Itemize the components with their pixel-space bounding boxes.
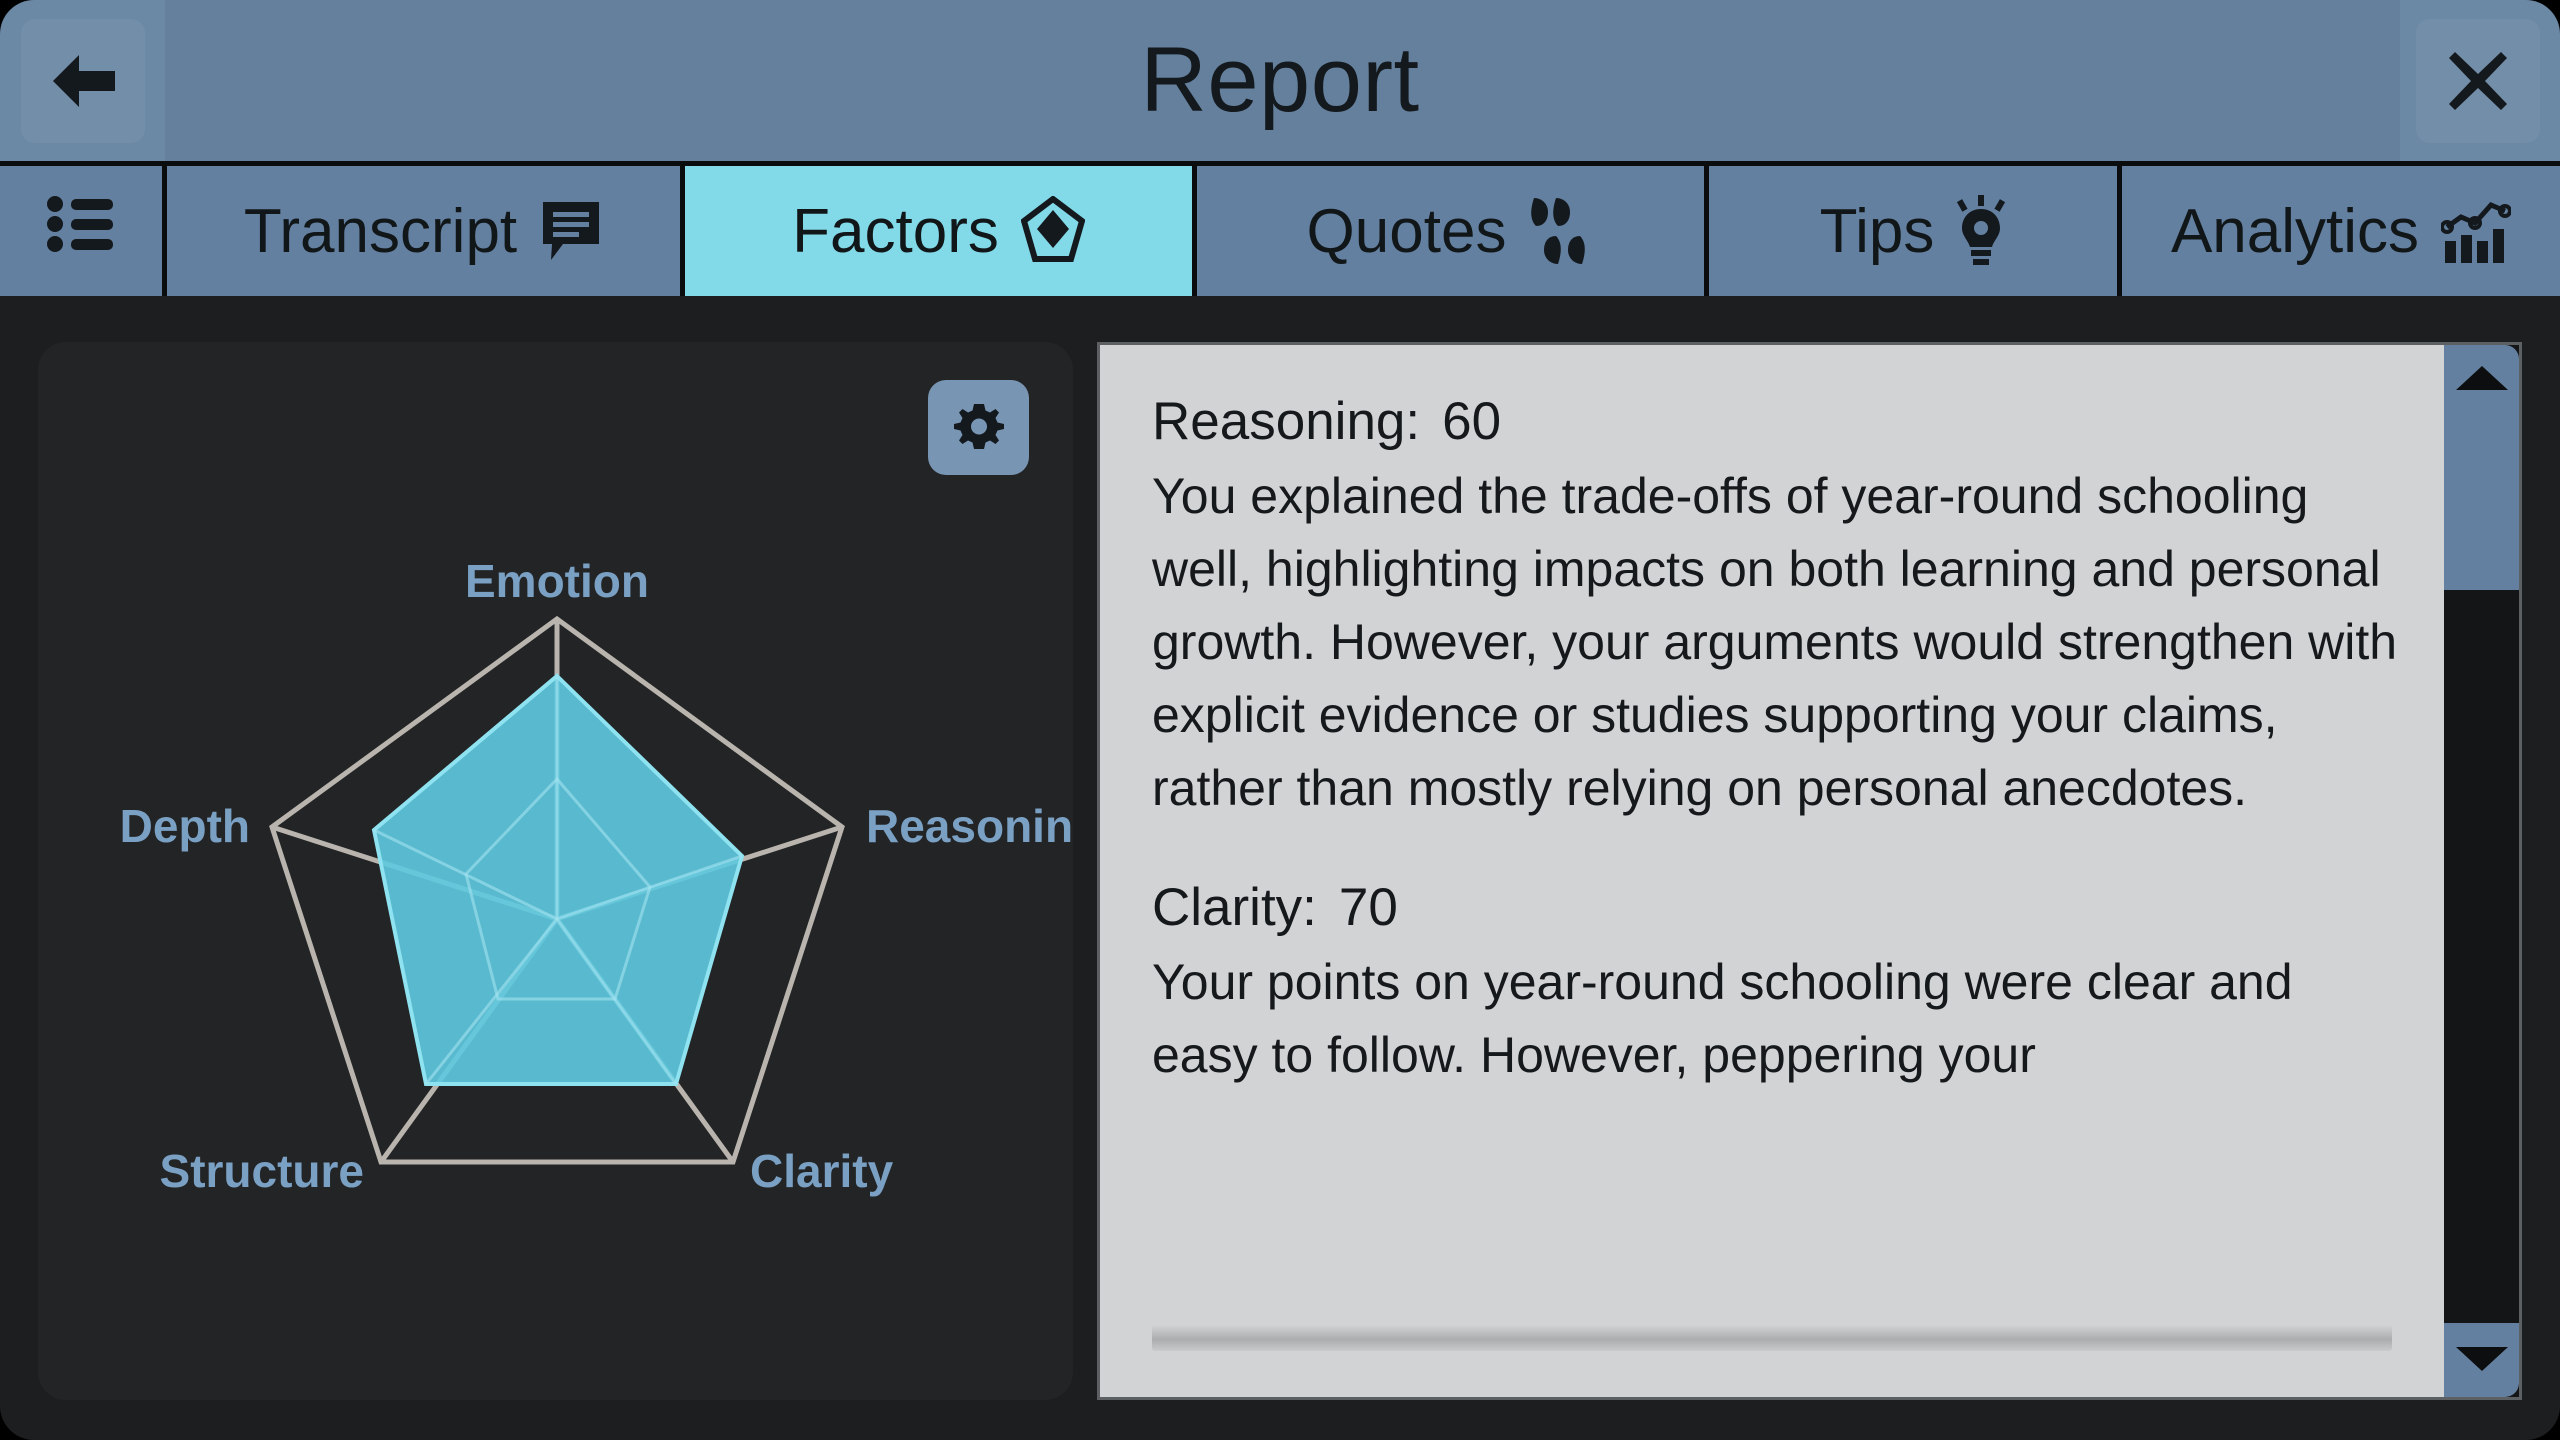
scrollbar-thumb[interactable] bbox=[2444, 345, 2519, 590]
tab-tips-label: Tips bbox=[1820, 196, 1935, 267]
feedback-panel[interactable]: Reasoning:60 You explained the trade-off… bbox=[1097, 342, 2444, 1400]
scrollbar-down-button[interactable] bbox=[2444, 1323, 2519, 1397]
title-bar-shade bbox=[165, 0, 2400, 161]
feedback-heading-clarity: Clarity:70 bbox=[1152, 877, 2400, 938]
speech-bubble-icon bbox=[539, 198, 603, 264]
title-bar: Report bbox=[0, 0, 2560, 166]
quotation-marks-icon bbox=[1528, 194, 1594, 268]
close-button[interactable] bbox=[2395, 0, 2560, 161]
radar-label-clarity: Clarity bbox=[750, 1145, 894, 1197]
tab-transcript[interactable]: Transcript bbox=[167, 166, 685, 296]
vertical-scrollbar[interactable] bbox=[2444, 342, 2522, 1400]
tab-transcript-label: Transcript bbox=[244, 196, 517, 267]
triangle-up-icon bbox=[2454, 363, 2510, 398]
factor-score: 70 bbox=[1339, 878, 1398, 937]
triangle-down-icon bbox=[2454, 1342, 2510, 1379]
pentagon-radar-icon bbox=[1021, 196, 1085, 266]
tab-factors-label: Factors bbox=[792, 196, 999, 267]
factor-name: Reasoning: bbox=[1152, 392, 1420, 451]
tab-bar: Transcript Factors Quotes bbox=[0, 166, 2560, 296]
factor-score: 60 bbox=[1442, 392, 1501, 451]
radar-chart: Emotion Reasoning Clarity Structure Dept… bbox=[38, 342, 1073, 1400]
factor-name: Clarity: bbox=[1152, 878, 1317, 937]
tab-quotes[interactable]: Quotes bbox=[1197, 166, 1709, 296]
radar-chart-card: Emotion Reasoning Clarity Structure Dept… bbox=[38, 342, 1073, 1400]
radar-label-emotion: Emotion bbox=[465, 555, 649, 607]
tab-quotes-label: Quotes bbox=[1307, 196, 1507, 267]
menu-button[interactable] bbox=[0, 166, 167, 296]
lightbulb-icon bbox=[1956, 195, 2006, 267]
back-button[interactable] bbox=[0, 0, 165, 161]
tab-analytics-label: Analytics bbox=[2171, 196, 2419, 267]
radar-label-reasoning: Reasoning bbox=[866, 800, 1073, 852]
radar-label-depth: Depth bbox=[120, 800, 250, 852]
content-area: Emotion Reasoning Clarity Structure Dept… bbox=[0, 296, 2560, 1440]
scrollbar-track[interactable] bbox=[2444, 590, 2519, 1323]
tab-factors[interactable]: Factors bbox=[685, 166, 1197, 296]
scroll-fade-indicator bbox=[1152, 1325, 2392, 1351]
close-x-icon bbox=[2416, 19, 2540, 143]
bar-chart-icon bbox=[2441, 197, 2511, 265]
report-window: Report Transcri bbox=[0, 0, 2560, 1440]
tab-tips[interactable]: Tips bbox=[1709, 166, 2122, 296]
feedback-section: Reasoning:60 You explained the trade-off… bbox=[1097, 342, 2522, 1400]
radar-label-structure: Structure bbox=[160, 1145, 364, 1197]
feedback-text-reasoning: You explained the trade-offs of year-rou… bbox=[1152, 460, 2400, 825]
feedback-text-clarity: Your points on year-round schooling were… bbox=[1152, 946, 2400, 1092]
bulleted-list-icon bbox=[47, 195, 115, 268]
back-arrow-icon bbox=[21, 19, 145, 143]
tab-analytics[interactable]: Analytics bbox=[2122, 166, 2560, 296]
feedback-heading-reasoning: Reasoning:60 bbox=[1152, 391, 2400, 452]
